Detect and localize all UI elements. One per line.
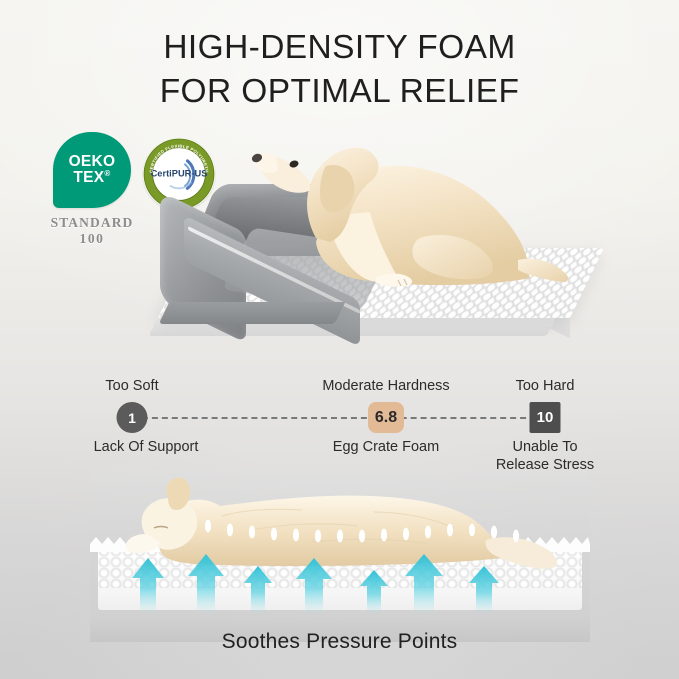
oeko-tex-line-1: OEKO xyxy=(69,153,116,170)
pressure-point-illustration xyxy=(90,470,590,642)
scale-desc-lack-of-support: Lack Of Support xyxy=(94,438,199,456)
scale-label-too-hard: Too Hard xyxy=(516,378,575,394)
hardness-scale: Too Soft Moderate Hardness Too Hard 1 6.… xyxy=(0,378,679,468)
scale-dashed-line xyxy=(132,417,546,419)
oeko-tex-line-2: TEX xyxy=(73,169,104,186)
scale-marker-1: 1 xyxy=(117,402,148,433)
scale-marker-6-8: 6.8 xyxy=(368,402,404,433)
title-line-2: FOR OPTIMAL RELIEF xyxy=(0,70,679,114)
oeko-tex-text: OEKO TEX® xyxy=(69,154,116,187)
title-line-1: HIGH-DENSITY FOAM xyxy=(0,26,679,70)
hero-product-image xyxy=(110,120,580,370)
dog-sitting-on-bed xyxy=(230,120,570,310)
scale-label-too-soft: Too Soft xyxy=(105,378,158,394)
pressure-arrows xyxy=(90,552,590,622)
pressure-caption: Soothes Pressure Points xyxy=(0,630,679,654)
scale-top-labels: Too Soft Moderate Hardness Too Hard xyxy=(0,378,679,398)
infographic-canvas: HIGH-DENSITY FOAM FOR OPTIMAL RELIEF OEK… xyxy=(0,0,679,679)
scale-desc-line-1: Unable To xyxy=(512,438,577,456)
scale-marker-10: 10 xyxy=(530,402,561,433)
arrow-up-icon xyxy=(132,554,499,614)
scale-desc-egg-crate-foam: Egg Crate Foam xyxy=(333,438,439,456)
scale-label-moderate-hardness: Moderate Hardness xyxy=(322,378,449,394)
page-title: HIGH-DENSITY FOAM FOR OPTIMAL RELIEF xyxy=(0,26,679,114)
